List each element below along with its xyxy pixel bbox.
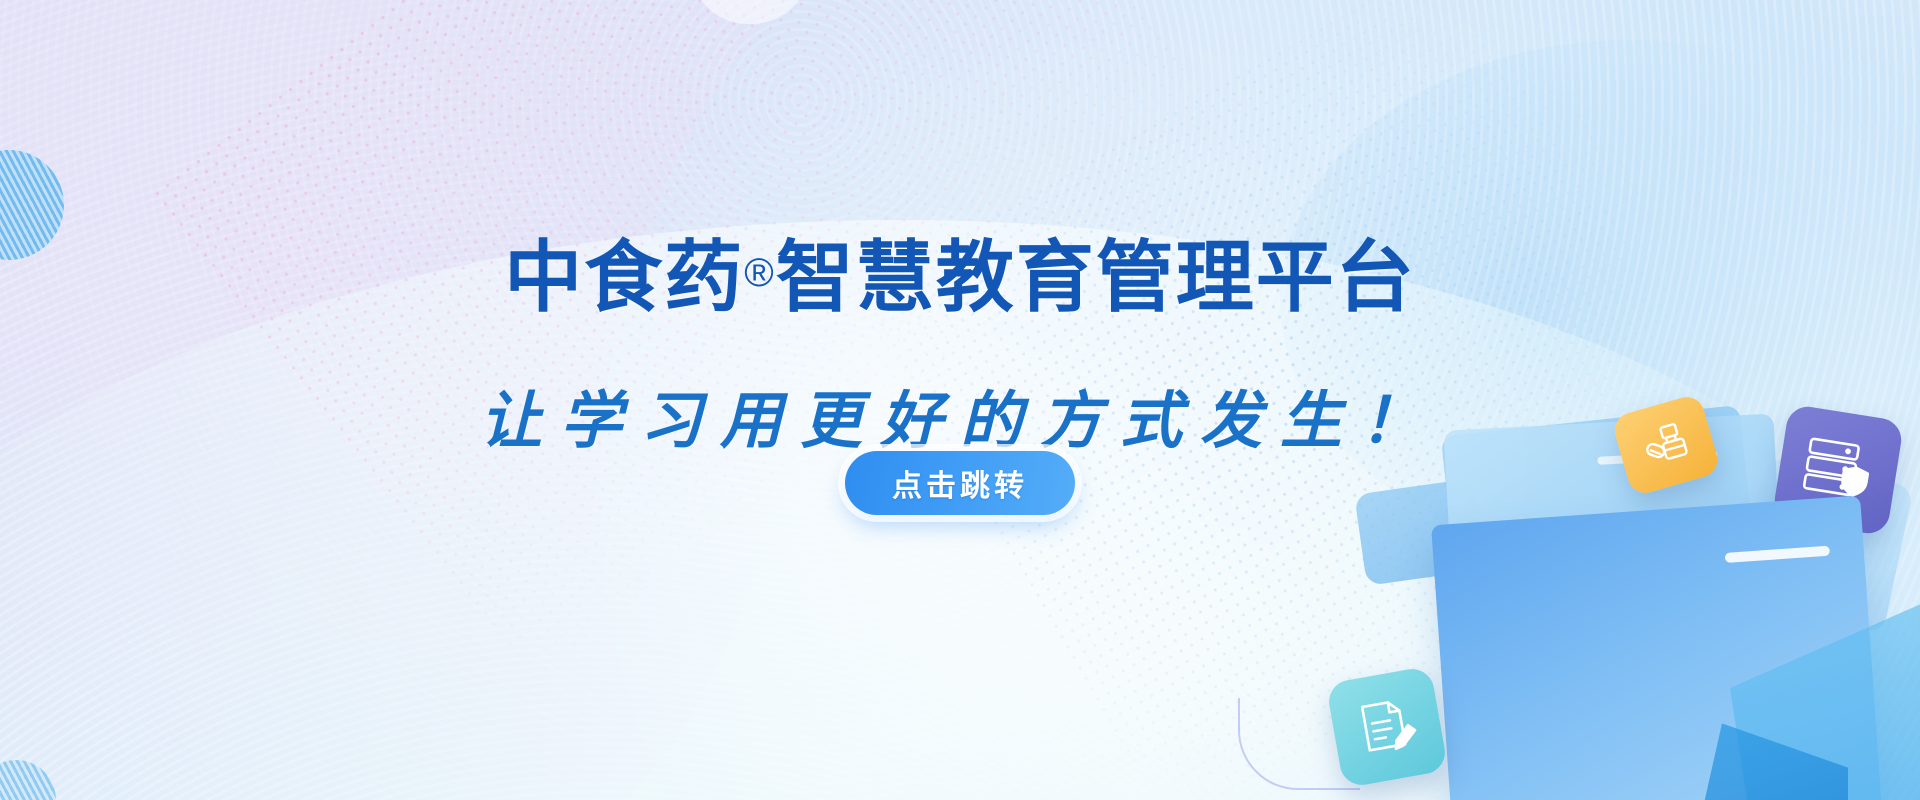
jump-button[interactable]: 点击跳转 — [845, 451, 1075, 515]
banner-content: 中食药®智慧教育管理平台 让学习用更好的方式发生！ 点击跳转 — [0, 0, 1920, 800]
cta-container: 点击跳转 — [0, 451, 1920, 515]
page-subtitle: 让学习用更好的方式发生！ — [0, 382, 1920, 462]
page-title-suffix: 智慧教育管理平台 — [776, 233, 1416, 321]
hero-banner: 中食药®智慧教育管理平台 让学习用更好的方式发生！ 点击跳转 — [0, 0, 1920, 800]
registered-mark-icon: ® — [744, 251, 775, 295]
page-title-brand: 中食药 — [504, 233, 744, 321]
page-title: 中食药®智慧教育管理平台 — [0, 228, 1920, 322]
